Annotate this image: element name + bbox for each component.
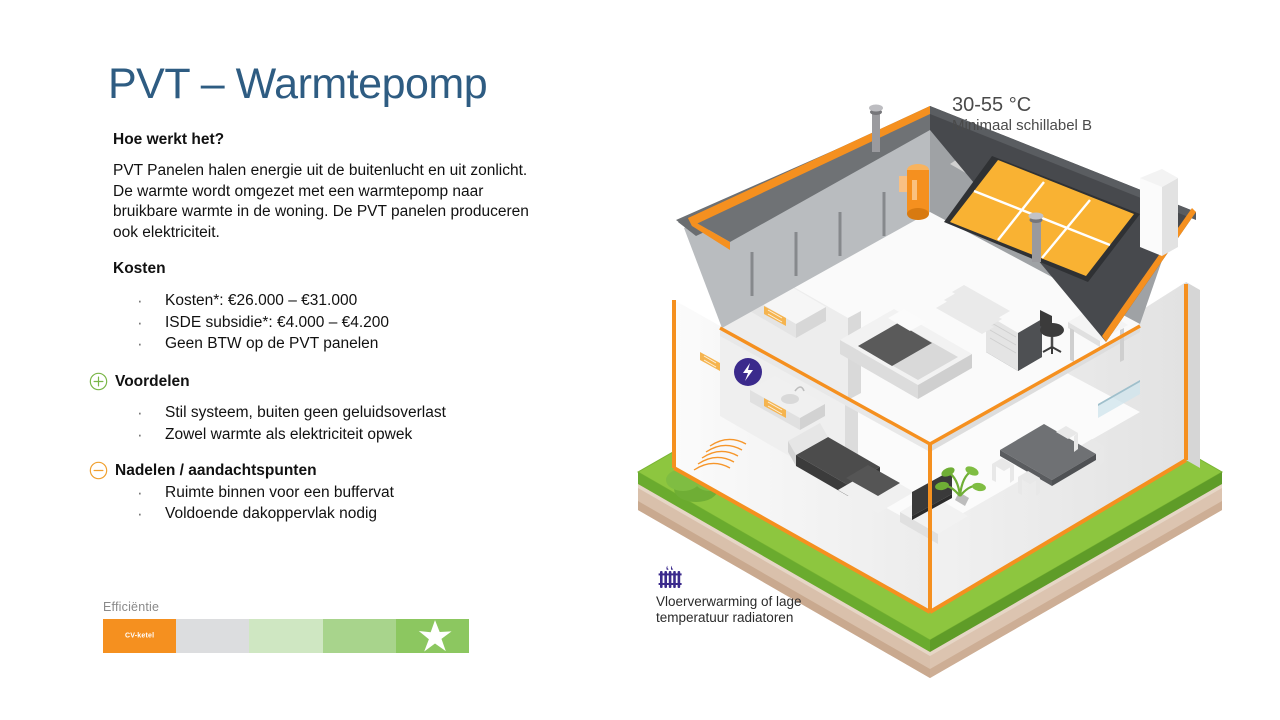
list-item: Geen BTW op de PVT panelen (113, 333, 633, 354)
house-illustration: 30-55 °C Minimaal schillabel B (600, 60, 1260, 680)
cv-ketel-label: CV-ketel (103, 633, 176, 640)
costs-list: Kosten*: €26.000 – €31.000 ISDE subsidie… (113, 290, 633, 354)
chimney-white (1140, 169, 1178, 256)
how-it-works-heading: Hoe werkt het? (113, 130, 633, 149)
temperature-value: 30-55 °C (952, 94, 1092, 117)
paragraph-line: De warmte wordt omgezet met een warmtepo… (113, 182, 633, 202)
advantages-list: Stil systeem, buiten geen geluidsoverlas… (113, 402, 633, 445)
advantages-label: Voordelen (115, 373, 190, 391)
efficiency-label: Efficiëntie (103, 600, 469, 614)
advantages-heading-row: Voordelen (113, 372, 633, 391)
efficiency-widget: Efficiëntie CV-ketel (103, 600, 469, 653)
paragraph-line: bruikbare warmte in de woning. De PVT pa… (113, 202, 633, 222)
plus-circle-icon (89, 372, 108, 391)
efficiency-segment-3 (249, 619, 322, 653)
efficiency-segment-4 (323, 619, 396, 653)
page-title: PVT – Warmtepomp (108, 60, 487, 109)
disadvantages-label: Nadelen / aandachtspunten (115, 462, 317, 480)
floor-heating-line: Vloerverwarming of lage (656, 594, 886, 610)
disadvantages-heading-row: Nadelen / aandachtspunten (113, 461, 633, 480)
paragraph-line: PVT Panelen halen energie uit de buitenl… (113, 161, 633, 181)
list-item: Ruimte binnen voor een buffervat (113, 482, 633, 503)
paragraph-line: ook elektriciteit. (113, 223, 633, 243)
slide-root: PVT – Warmtepomp Hoe werkt het? PVT Pane… (0, 0, 1280, 720)
list-item: Voldoende dakoppervlak nodig (113, 503, 633, 524)
list-item: ISDE subsidie*: €4.000 – €4.200 (113, 312, 633, 333)
intro-paragraph: PVT Panelen halen energie uit de buitenl… (113, 161, 633, 243)
costs-heading: Kosten (113, 260, 633, 278)
efficiency-segment-1: CV-ketel (103, 619, 176, 653)
minus-circle-icon (89, 461, 108, 480)
floor-heating-caption: Vloerverwarming of lage temperatuur radi… (656, 564, 886, 627)
list-item: Kosten*: €26.000 – €31.000 (113, 290, 633, 311)
efficiency-segment-2 (176, 619, 249, 653)
disadvantages-list: Ruimte binnen voor een buffervat Voldoen… (113, 482, 633, 525)
radiator-icon (656, 564, 686, 591)
floor-heating-line: temperatuur radiatoren (656, 610, 886, 626)
efficiency-bar: CV-ketel (103, 619, 469, 653)
content-column: Hoe werkt het? PVT Panelen halen energie… (113, 130, 633, 525)
list-item: Stil systeem, buiten geen geluidsoverlas… (113, 402, 633, 423)
list-item: Zowel warmte als elektriciteit opwek (113, 424, 633, 445)
label-requirement: Minimaal schillabel B (952, 117, 1092, 136)
temperature-callout: 30-55 °C Minimaal schillabel B (952, 94, 1092, 136)
star-icon (417, 618, 453, 654)
